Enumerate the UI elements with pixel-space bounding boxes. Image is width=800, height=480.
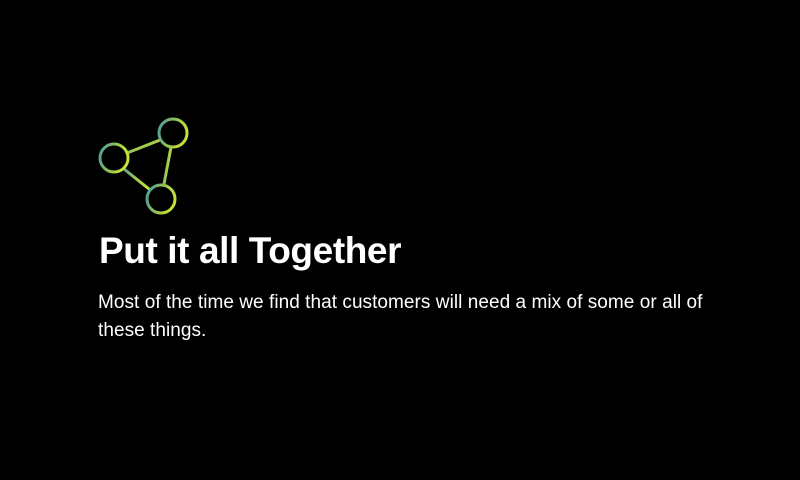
network-edges-group [124, 140, 171, 189]
network-graph-svg [92, 112, 198, 222]
edge-left-to-bottom [124, 169, 149, 189]
slide-root: Put it all Together Most of the time we … [0, 0, 800, 480]
page-title: Put it all Together [99, 230, 401, 272]
node-left-circle [100, 144, 128, 172]
edge-top-right-to-bottom [164, 147, 171, 184]
slide-body-text: Most of the time we find that customers … [98, 289, 708, 345]
network-nodes-group [100, 119, 187, 213]
node-top-right-circle [159, 119, 187, 147]
node-bottom-circle [147, 185, 175, 213]
network-graph-icon [92, 112, 198, 222]
edge-left-to-top-right [127, 140, 160, 153]
